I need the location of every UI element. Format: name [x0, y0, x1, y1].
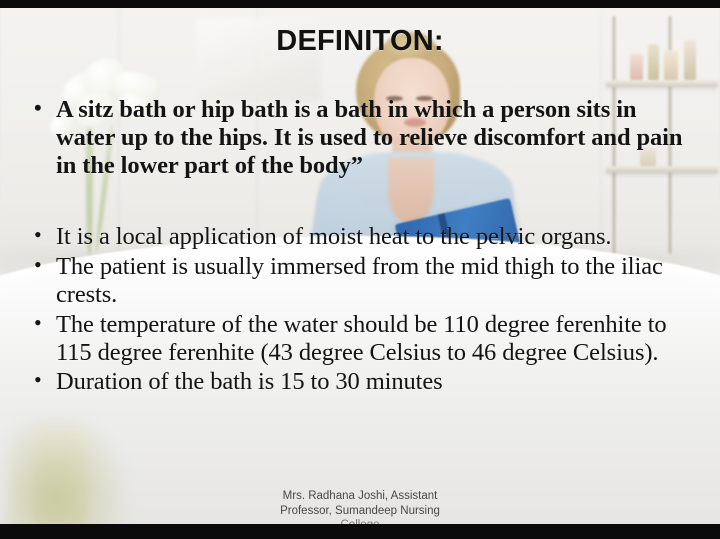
bullet-local-application: It is a local application of moist heat …	[26, 223, 698, 251]
slide-content: DEFINITON: A sitz bath or hip bath is a …	[0, 0, 720, 539]
credit-line-2: Professor, Sumandeep Nursing	[0, 504, 720, 519]
bullet-list: A sitz bath or hip bath is a bath in whi…	[26, 96, 698, 398]
credit-line-1: Mrs. Radhana Joshi, Assistant	[0, 489, 720, 504]
bullet-immersion-level: The patient is usually immersed from the…	[26, 253, 698, 309]
presentation-slide: DEFINITON: A sitz bath or hip bath is a …	[0, 0, 720, 539]
slide-title: DEFINITON:	[0, 25, 720, 58]
bullet-duration: Duration of the bath is 15 to 30 minutes	[26, 368, 698, 396]
bullet-definition: A sitz bath or hip bath is a bath in whi…	[26, 96, 698, 179]
letterbox-bar-bottom	[0, 524, 720, 539]
letterbox-bar-top	[0, 0, 720, 8]
bullet-water-temperature: The temperature of the water should be 1…	[26, 311, 698, 367]
